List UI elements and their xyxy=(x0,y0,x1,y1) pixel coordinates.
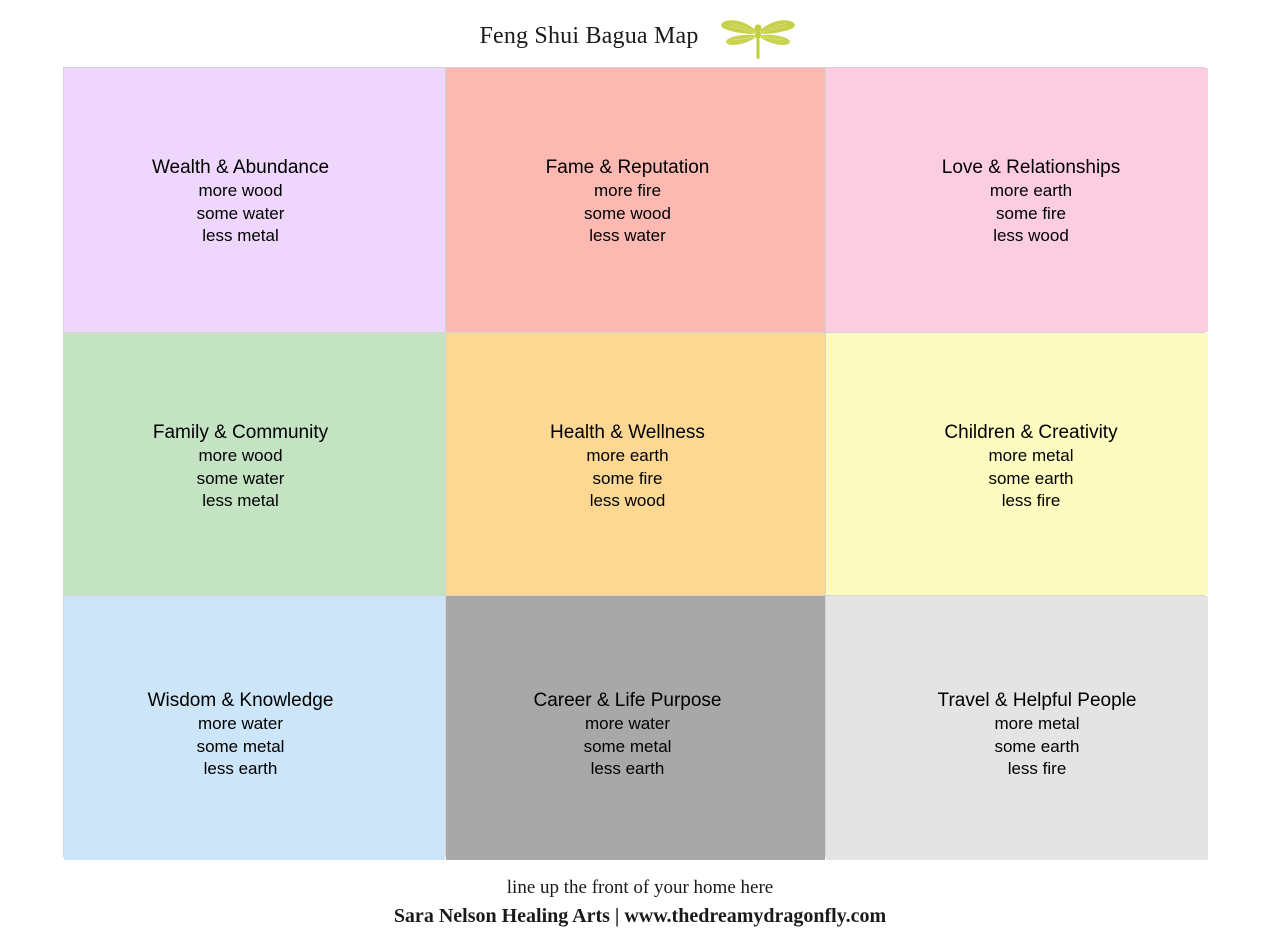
bagua-cell-children-creativity[interactable]: Children & Creativity more metal some ea… xyxy=(826,333,1208,595)
cell-text-block: Health & Wellness more earth some fire l… xyxy=(446,421,817,513)
cell-element-line: some fire xyxy=(840,203,1208,226)
cell-element-line: some wood xyxy=(446,203,817,226)
cell-element-line: more metal xyxy=(846,713,1208,736)
cell-text-block: Career & Life Purpose more water some me… xyxy=(446,689,817,781)
cell-element-line: some water xyxy=(64,203,431,226)
cell-element-line: more metal xyxy=(840,445,1208,468)
cell-element-line: more water xyxy=(446,713,817,736)
bagua-cell-wealth-abundance[interactable]: Wealth & Abundance more wood some water … xyxy=(64,68,445,332)
cell-element-line: less fire xyxy=(840,490,1208,513)
bagua-map-page: Feng Shui Bagua Map xyxy=(0,0,1280,948)
bagua-cell-health-wellness[interactable]: Health & Wellness more earth some fire l… xyxy=(446,333,825,595)
cell-element-line: more wood xyxy=(64,180,431,203)
bagua-cell-fame-reputation[interactable]: Fame & Reputation more fire some wood le… xyxy=(446,68,825,332)
cell-element-line: more earth xyxy=(840,180,1208,203)
cell-text-block: Wealth & Abundance more wood some water … xyxy=(64,156,431,248)
cell-text-block: Wisdom & Knowledge more water some metal… xyxy=(64,689,431,781)
cell-element-line: less fire xyxy=(846,758,1208,781)
bagua-cell-travel-helpful-people[interactable]: Travel & Helpful People more metal some … xyxy=(826,596,1208,860)
cell-text-block: Family & Community more wood some water … xyxy=(64,421,431,513)
cell-title: Children & Creativity xyxy=(840,421,1208,444)
cell-title: Career & Life Purpose xyxy=(446,689,817,712)
cell-title: Love & Relationships xyxy=(840,156,1208,179)
cell-text-block: Love & Relationships more earth some fir… xyxy=(840,156,1208,248)
cell-element-line: less wood xyxy=(446,490,817,513)
page-footer: line up the front of your home here Sara… xyxy=(0,874,1280,930)
bagua-grid: Wealth & Abundance more wood some water … xyxy=(63,67,1205,857)
cell-element-line: some metal xyxy=(446,736,817,759)
cell-element-line: less metal xyxy=(64,225,431,248)
bagua-cell-love-relationships[interactable]: Love & Relationships more earth some fir… xyxy=(826,68,1208,332)
cell-title: Fame & Reputation xyxy=(446,156,817,179)
cell-title: Wisdom & Knowledge xyxy=(64,689,431,712)
cell-title: Health & Wellness xyxy=(446,421,817,444)
footer-credit: Sara Nelson Healing Arts | www.thedreamy… xyxy=(0,902,1280,930)
cell-element-line: less earth xyxy=(64,758,431,781)
cell-element-line: more fire xyxy=(446,180,817,203)
cell-text-block: Travel & Helpful People more metal some … xyxy=(846,689,1208,781)
cell-element-line: some earth xyxy=(846,736,1208,759)
cell-element-line: less wood xyxy=(840,225,1208,248)
bagua-cell-family-community[interactable]: Family & Community more wood some water … xyxy=(64,333,445,595)
cell-title: Family & Community xyxy=(64,421,431,444)
cell-element-line: less water xyxy=(446,225,817,248)
bagua-cell-wisdom-knowledge[interactable]: Wisdom & Knowledge more water some metal… xyxy=(64,596,445,860)
page-title: Feng Shui Bagua Map xyxy=(479,23,698,50)
cell-element-line: some fire xyxy=(446,468,817,491)
cell-title: Wealth & Abundance xyxy=(64,156,431,179)
cell-element-line: more wood xyxy=(64,445,431,468)
cell-text-block: Fame & Reputation more fire some wood le… xyxy=(446,156,817,248)
cell-element-line: more earth xyxy=(446,445,817,468)
cell-element-line: some metal xyxy=(64,736,431,759)
page-header: Feng Shui Bagua Map xyxy=(0,12,1280,60)
dragonfly-icon xyxy=(715,12,801,60)
cell-element-line: less metal xyxy=(64,490,431,513)
cell-element-line: some earth xyxy=(840,468,1208,491)
cell-element-line: more water xyxy=(64,713,431,736)
cell-element-line: less earth xyxy=(446,758,817,781)
footer-instruction: line up the front of your home here xyxy=(0,874,1280,901)
cell-element-line: some water xyxy=(64,468,431,491)
cell-text-block: Children & Creativity more metal some ea… xyxy=(840,421,1208,513)
bagua-cell-career-life-purpose[interactable]: Career & Life Purpose more water some me… xyxy=(446,596,825,860)
cell-title: Travel & Helpful People xyxy=(846,689,1208,712)
